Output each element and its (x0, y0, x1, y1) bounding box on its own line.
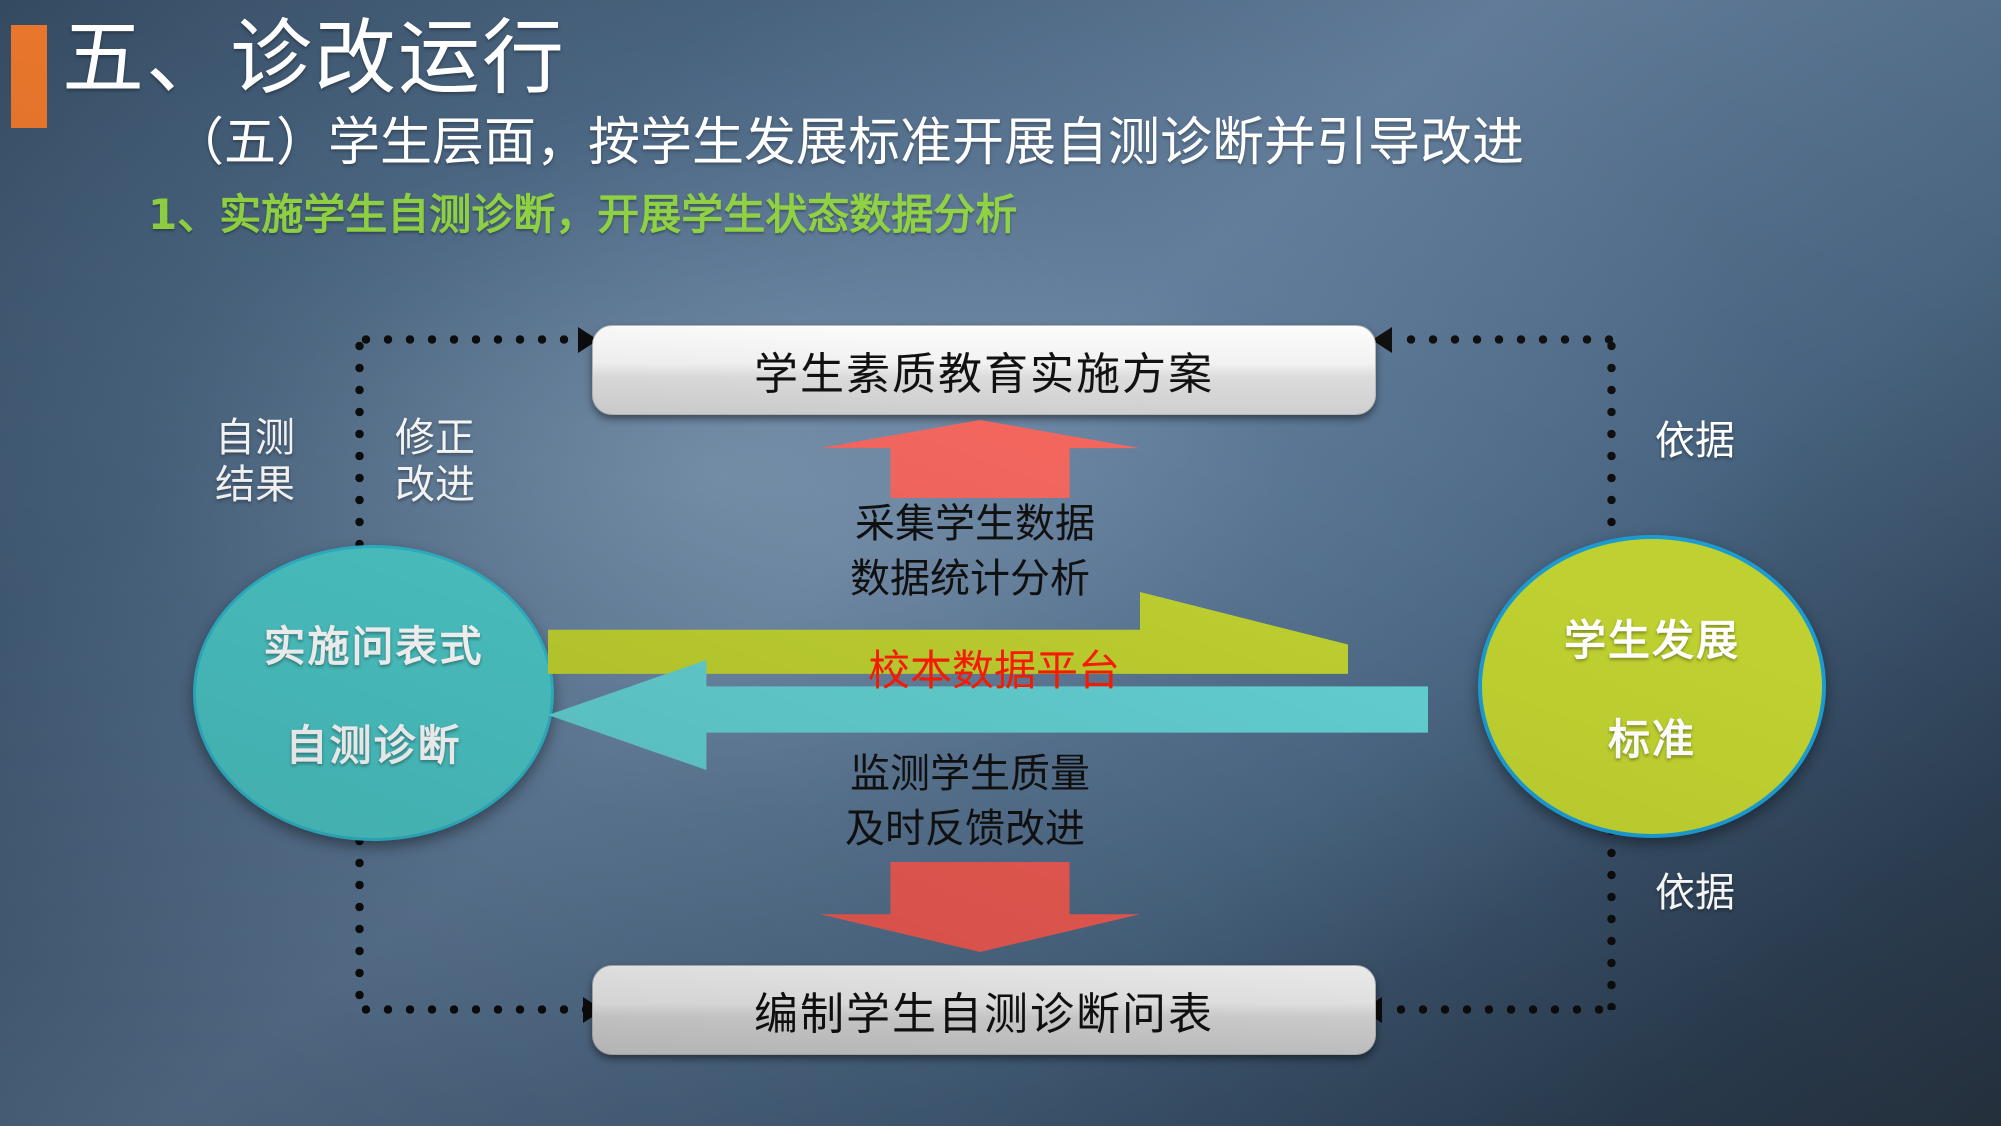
upper-note-line1: 采集学生数据 (855, 500, 1095, 548)
lower-note-line2: 及时反馈改进 (845, 805, 1085, 853)
dotted-line-left-inner-vertical (355, 830, 364, 1010)
dotted-line-left-outer-horizontal (355, 335, 585, 344)
dotted-line-left-inner-horizontal (355, 1005, 590, 1014)
right-label-basis-top: 依据 (1655, 418, 1735, 465)
section-heading: 1、实施学生自测诊断，开展学生状态数据分析 (148, 190, 1017, 240)
left-circle-node[interactable]: 实施问表式 自测诊断 (193, 545, 554, 841)
left-label-correction-line2: 改进 (395, 462, 475, 509)
slide-canvas: 五、诊改运行 （五）学生层面，按学生发展标准开展自测诊断并引导改进 1、实施学生… (0, 0, 2001, 1126)
red-arrow-up (820, 420, 1140, 498)
title-accent-bar (11, 25, 47, 128)
right-circle-node[interactable]: 学生发展 标准 (1478, 535, 1826, 838)
bottom-process-box[interactable]: 编制学生自测诊断问表 (592, 965, 1376, 1055)
dotted-line-right-top-horizontal (1400, 335, 1615, 344)
lower-note-line1: 监测学生质量 (850, 750, 1090, 798)
right-label-basis-bottom: 依据 (1655, 870, 1735, 917)
left-label-self-test: 自测 结果 (215, 415, 295, 509)
page-title: 五、诊改运行 (62, 18, 566, 100)
right-circle-line2: 标准 (1608, 706, 1696, 767)
top-process-box-label: 学生素质教育实施方案 (754, 338, 1214, 402)
red-arrow-down (820, 862, 1140, 952)
left-label-self-test-line1: 自测 (215, 415, 295, 462)
left-label-correction-line1: 修正 (395, 415, 475, 462)
dotted-line-right-bottom-vertical (1607, 820, 1616, 1010)
left-circle-line2: 自测诊断 (285, 712, 461, 773)
top-process-box[interactable]: 学生素质教育实施方案 (592, 325, 1376, 415)
dotted-line-right-top-vertical (1607, 335, 1616, 530)
left-label-self-test-line2: 结果 (215, 462, 295, 509)
bottom-process-box-label: 编制学生自测诊断问表 (754, 978, 1214, 1042)
platform-label: 校本数据平台 (868, 650, 1120, 692)
upper-note-line2: 数据统计分析 (850, 555, 1090, 603)
page-subtitle: （五）学生层面，按学生发展标准开展自测诊断并引导改进 (172, 112, 1524, 174)
left-circle-line1: 实施问表式 (263, 613, 483, 674)
left-label-correction: 修正 改进 (395, 415, 475, 509)
dotted-line-right-bottom-horizontal (1390, 1005, 1615, 1014)
right-circle-line1: 学生发展 (1564, 607, 1740, 668)
